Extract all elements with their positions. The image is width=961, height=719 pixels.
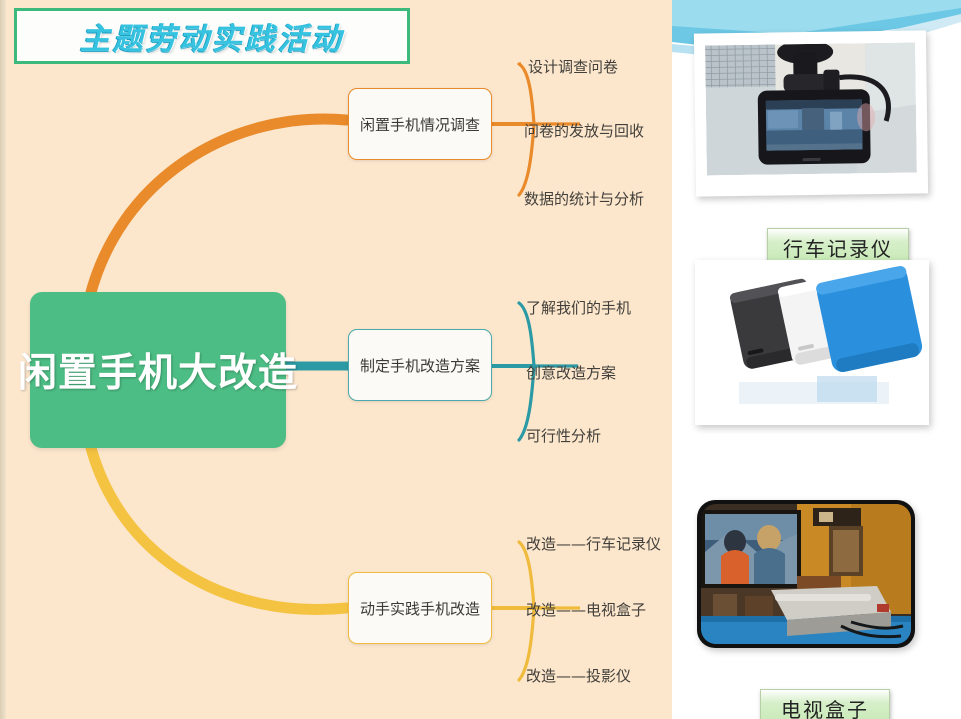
caption-text-dashcam: 行车记录仪	[783, 233, 893, 262]
leaf-plan-2[interactable]: 可行性分析	[526, 425, 601, 446]
main-curve-orange	[90, 119, 346, 296]
photo-frame-dashcam	[694, 30, 928, 196]
page-title: 主题劳动实践活动	[80, 14, 344, 58]
branch-node-practice[interactable]: 动手实践手机改造	[348, 572, 492, 644]
branch-label-survey: 闲置手机情况调查	[360, 114, 480, 135]
photo-frame-projector	[697, 500, 915, 648]
caption-text-tvbox: 电视盒子	[781, 694, 869, 719]
branch-label-practice: 动手实践手机改造	[360, 598, 480, 619]
main-curve-yellow	[90, 444, 346, 610]
leaf-survey-2[interactable]: 数据的统计与分析	[524, 188, 644, 209]
branch-node-plan[interactable]: 制定手机改造方案	[348, 329, 492, 401]
mindmap-center-label: 闲置手机大改造	[18, 342, 298, 398]
slide-canvas: 主题劳动实践活动 闲置手机大改造	[0, 0, 961, 719]
leaf-plan-0[interactable]: 了解我们的手机	[526, 297, 631, 318]
dashcam-photo	[705, 43, 917, 176]
leaf-practice-2[interactable]: 改造——投影仪	[526, 665, 631, 686]
slide-title-box: 主题劳动实践活动	[14, 8, 410, 64]
projector-photo	[701, 504, 911, 644]
leaf-survey-1[interactable]: 问卷的发放与回收	[524, 120, 644, 141]
mindmap-panel: 主题劳动实践活动 闲置手机大改造	[0, 0, 672, 719]
tv-box-photo	[699, 264, 925, 421]
branch-node-survey[interactable]: 闲置手机情况调查	[348, 88, 492, 160]
caption-tvbox: 电视盒子	[760, 689, 890, 719]
branch-label-plan: 制定手机改造方案	[360, 355, 480, 376]
panel-left-edge	[0, 0, 6, 719]
gallery-panel: 行车记录仪	[672, 0, 961, 719]
photo-frame-tvbox	[695, 260, 929, 425]
leaf-survey-0[interactable]: 设计调查问卷	[528, 56, 618, 77]
leaf-practice-1[interactable]: 改造——电视盒子	[526, 599, 646, 620]
leaf-practice-0[interactable]: 改造——行车记录仪	[526, 533, 661, 554]
mindmap-center-node[interactable]: 闲置手机大改造	[30, 292, 286, 448]
leaf-plan-1[interactable]: 创意改造方案	[526, 362, 616, 383]
